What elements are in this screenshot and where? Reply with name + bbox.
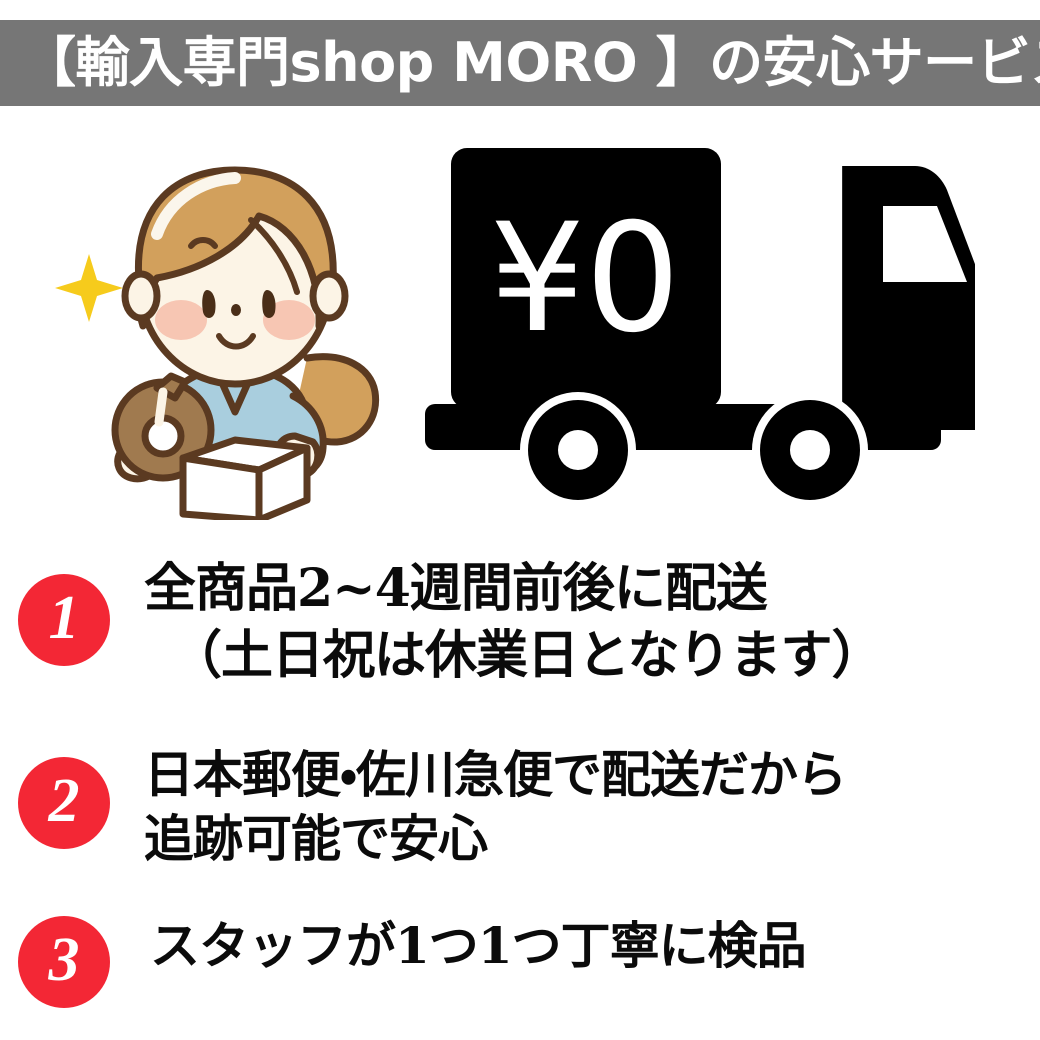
truck-cargo-label: ¥0 (490, 192, 681, 366)
truck-rear-wheel (520, 392, 636, 508)
feature-item-1: 1 全商品2~4週間前後に配送 （土日祝は休業日となります） (0, 556, 1040, 716)
feature-text-3: スタッフが1つ1つ丁寧に検品 (150, 910, 1040, 978)
illustration-area: ¥0 (0, 120, 1040, 530)
page-title: 【輸入専門shop MORO 】の安心サービス (22, 36, 1040, 90)
truck-front-wheel (752, 392, 868, 508)
feature-text-1: 全商品2~4週間前後に配送 （土日祝は休業日となります） (144, 556, 1040, 689)
feature-badge-3: 3 (18, 916, 110, 1008)
sparkle-icon (55, 254, 123, 322)
delivery-truck-icon: ¥0 (415, 130, 975, 520)
feature-list: 1 全商品2~4週間前後に配送 （土日祝は休業日となります） 2 日本郵便・佐川… (0, 548, 1040, 1038)
feature-line-1-2: （土日祝は休業日となります） (144, 623, 1040, 690)
service-banner-page: 【輸入専門shop MORO 】の安心サービス (0, 0, 1040, 1040)
feature-line-1-1: 全商品2~4週間前後に配送 (144, 556, 1040, 623)
feature-line-3-1: スタッフが1つ1つ丁寧に検品 (150, 914, 1040, 978)
feature-item-2: 2 日本郵便・佐川急便で配送だから 追跡可能で安心 (0, 743, 1040, 903)
feature-badge-number-1: 1 (49, 587, 80, 649)
feature-item-3: 3 スタッフが1つ1つ丁寧に検品 (0, 910, 1040, 1020)
feature-text-2: 日本郵便・佐川急便で配送だから 追跡可能で安心 (144, 743, 1040, 871)
woman-packing-box-illustration (45, 130, 425, 520)
feature-badge-number-2: 2 (49, 770, 80, 832)
header-banner: 【輸入専門shop MORO 】の安心サービス (0, 20, 1040, 106)
feature-badge-number-3: 3 (49, 929, 80, 991)
feature-badge-1: 1 (18, 574, 110, 666)
feature-badge-2: 2 (18, 757, 110, 849)
feature-line-2-2: 追跡可能で安心 (144, 807, 1040, 871)
cardboard-box-icon (183, 440, 307, 520)
feature-line-2-1: 日本郵便・佐川急便で配送だから (144, 743, 1040, 807)
